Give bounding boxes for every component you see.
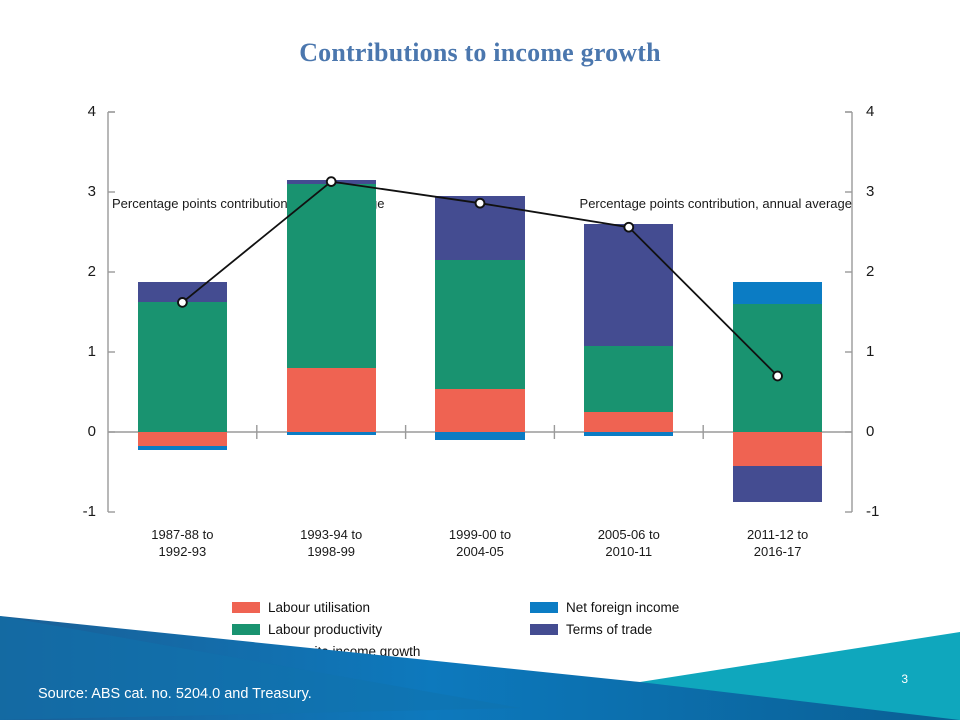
bar-segment: [435, 432, 524, 440]
y-tick-label: -1: [62, 503, 96, 520]
bar-group: [287, 112, 376, 512]
bar-series-container: [108, 112, 852, 512]
y-tick-label: 2: [866, 263, 900, 280]
bar-segment: [584, 346, 673, 412]
bar-segment: [733, 282, 822, 304]
footer-decoration: Source: ABS cat. no. 5204.0 and Treasury…: [0, 590, 960, 720]
bar-segment: [733, 432, 822, 466]
y-tick-label: 3: [866, 183, 900, 200]
bar-segment: [584, 224, 673, 346]
x-axis-label-line: 1992-93: [102, 543, 262, 560]
x-axis-label: 1993-94 to1998-99: [251, 526, 411, 560]
bar-segment: [138, 446, 227, 450]
y-tick-label: 3: [62, 183, 96, 200]
source-note: Source: ABS cat. no. 5204.0 and Treasury…: [38, 686, 312, 702]
x-axis-label-line: 2004-05: [400, 543, 560, 560]
y-tick-label: 1: [866, 343, 900, 360]
bar-segment: [584, 432, 673, 436]
bar-segment: [733, 304, 822, 432]
y-tick-label: 2: [62, 263, 96, 280]
x-axis-label-line: 2010-11: [549, 543, 709, 560]
bar-segment: [435, 260, 524, 389]
page-number-badge: 3: [901, 672, 908, 686]
bar-segment: [287, 184, 376, 368]
x-axis-label: 1999-00 to2004-05: [400, 526, 560, 560]
bar-segment: [733, 466, 822, 501]
y-tick-label: 0: [62, 423, 96, 440]
bar-group: [435, 112, 524, 512]
bar-group: [733, 112, 822, 512]
bar-segment: [435, 196, 524, 260]
page-title: Contributions to income growth: [0, 38, 960, 68]
bar-segment: [287, 432, 376, 435]
y-tick-label: -1: [866, 503, 900, 520]
bar-group: [138, 112, 227, 512]
bar-segment: [435, 389, 524, 432]
y-tick-label: 0: [866, 423, 900, 440]
bar-segment: [138, 432, 227, 446]
x-axis-label-line: 1999-00 to: [400, 526, 560, 543]
x-axis-label: 2011-12 to2016-17: [698, 526, 858, 560]
y-tick-label: 4: [866, 103, 900, 120]
bar-segment: [287, 368, 376, 432]
y-tick-label: 4: [62, 103, 96, 120]
x-axis-label-line: 1993-94 to: [251, 526, 411, 543]
x-axis-label-line: 1987-88 to: [102, 526, 262, 543]
bar-segment: [138, 302, 227, 432]
chart: Percentage points contribution, annual a…: [0, 96, 960, 596]
x-axis-label-line: 2011-12 to: [698, 526, 858, 543]
bar-segment: [138, 282, 227, 303]
x-axis-label-line: 2005-06 to: [549, 526, 709, 543]
x-axis-label: 2005-06 to2010-11: [549, 526, 709, 560]
bar-segment: [287, 180, 376, 184]
y-tick-label: 1: [62, 343, 96, 360]
bar-segment: [584, 412, 673, 432]
bar-group: [584, 112, 673, 512]
x-axis-label: 1987-88 to1992-93: [102, 526, 262, 560]
x-axis-label-line: 2016-17: [698, 543, 858, 560]
x-axis-label-line: 1998-99: [251, 543, 411, 560]
